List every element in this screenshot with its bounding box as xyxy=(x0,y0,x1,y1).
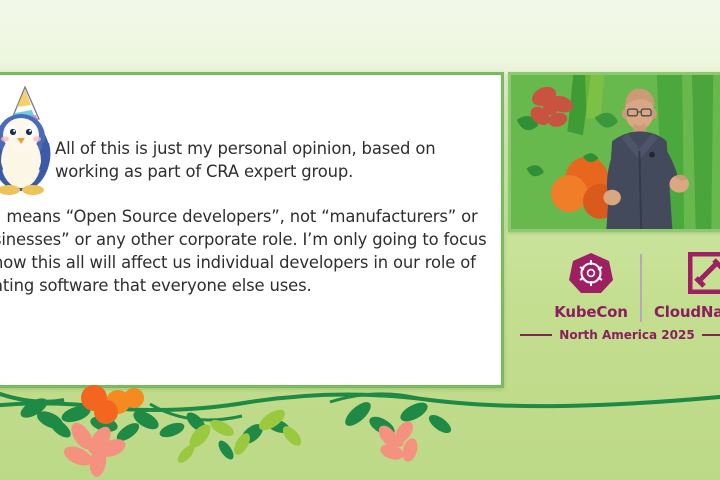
presentation-slide[interactable]: All of this is just my personal opinion,… xyxy=(0,72,504,388)
region-rule-right xyxy=(702,334,720,336)
conference-region-row: North America 2025 xyxy=(520,328,720,342)
slide-content: All of this is just my personal opinion,… xyxy=(0,75,501,385)
slide-text-block: All of this is just my personal opinion,… xyxy=(0,137,493,298)
conference-region-label: North America 2025 xyxy=(559,328,694,342)
kubernetes-helm-icon xyxy=(569,252,613,294)
kubecon-lockup: KubeCon xyxy=(548,252,634,321)
logo-marks-row: KubeCon CloudNativeCo xyxy=(520,252,720,308)
speaker-video-feed[interactable] xyxy=(508,72,720,232)
logo-divider xyxy=(640,254,642,322)
cloudnativecon-square-icon xyxy=(688,252,720,294)
conference-logo: KubeCon CloudNativeCo North America 2025 xyxy=(520,252,720,360)
cloudnativecon-label: CloudNativeCo xyxy=(654,303,720,321)
region-rule-left xyxy=(520,334,552,336)
slide-paragraph-1: All of this is just my personal opinion,… xyxy=(55,137,485,184)
kubecon-label: KubeCon xyxy=(548,303,634,321)
speaker-video-frame xyxy=(511,75,720,231)
cloudnativecon-lockup: CloudNativeCo xyxy=(654,252,720,321)
floral-vine-decoration xyxy=(0,380,720,480)
slide-paragraph-2: ” means “Open Source developers”, not “m… xyxy=(0,205,491,298)
